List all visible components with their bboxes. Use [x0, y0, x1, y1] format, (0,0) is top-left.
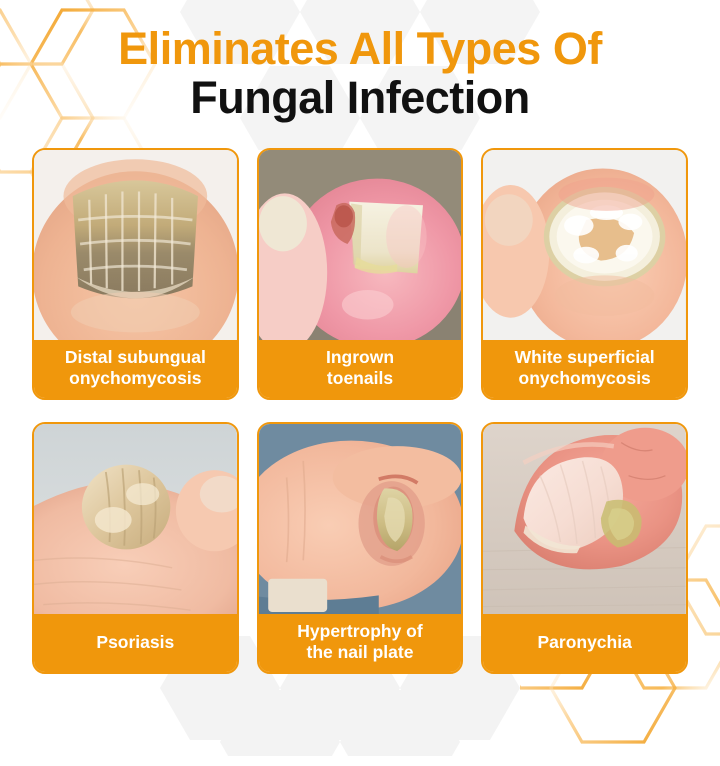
caption-white-superficial-onychomycosis: White superficial onychomycosis	[483, 340, 686, 398]
card-distal-subungual-onychomycosis[interactable]: Distal subungual onychomycosis	[32, 148, 239, 400]
photo-distal-subungual-onychomycosis	[34, 150, 237, 340]
card-ingrown-toenails[interactable]: Ingrown toenails	[257, 148, 464, 400]
caption-psoriasis: Psoriasis	[34, 614, 237, 672]
photo-white-superficial-onychomycosis	[483, 150, 686, 340]
card-paronychia[interactable]: Paronychia	[481, 422, 688, 674]
caption-paronychia: Paronychia	[483, 614, 686, 672]
caption-hypertrophy-of-the-nail-plate: Hypertrophy of the nail plate	[259, 614, 462, 672]
caption-distal-subungual-onychomycosis: Distal subungual onychomycosis	[34, 340, 237, 398]
photo-psoriasis	[34, 424, 237, 614]
photo-ingrown-toenails	[259, 150, 462, 340]
card-white-superficial-onychomycosis[interactable]: White superficial onychomycosis	[481, 148, 688, 400]
card-psoriasis[interactable]: Psoriasis	[32, 422, 239, 674]
page-title-line-2: Fungal Infection	[190, 75, 529, 121]
card-hypertrophy-of-the-nail-plate[interactable]: Hypertrophy of the nail plate	[257, 422, 464, 674]
caption-ingrown-toenails: Ingrown toenails	[259, 340, 462, 398]
photo-paronychia	[483, 424, 686, 614]
photo-hypertrophy-of-the-nail-plate	[259, 424, 462, 614]
page-header: Eliminates All Types Of Fungal Infection	[0, 0, 720, 146]
infection-type-grid: Distal subungual onychomycosis	[32, 148, 688, 674]
page-title-line-1: Eliminates All Types Of	[118, 26, 602, 72]
